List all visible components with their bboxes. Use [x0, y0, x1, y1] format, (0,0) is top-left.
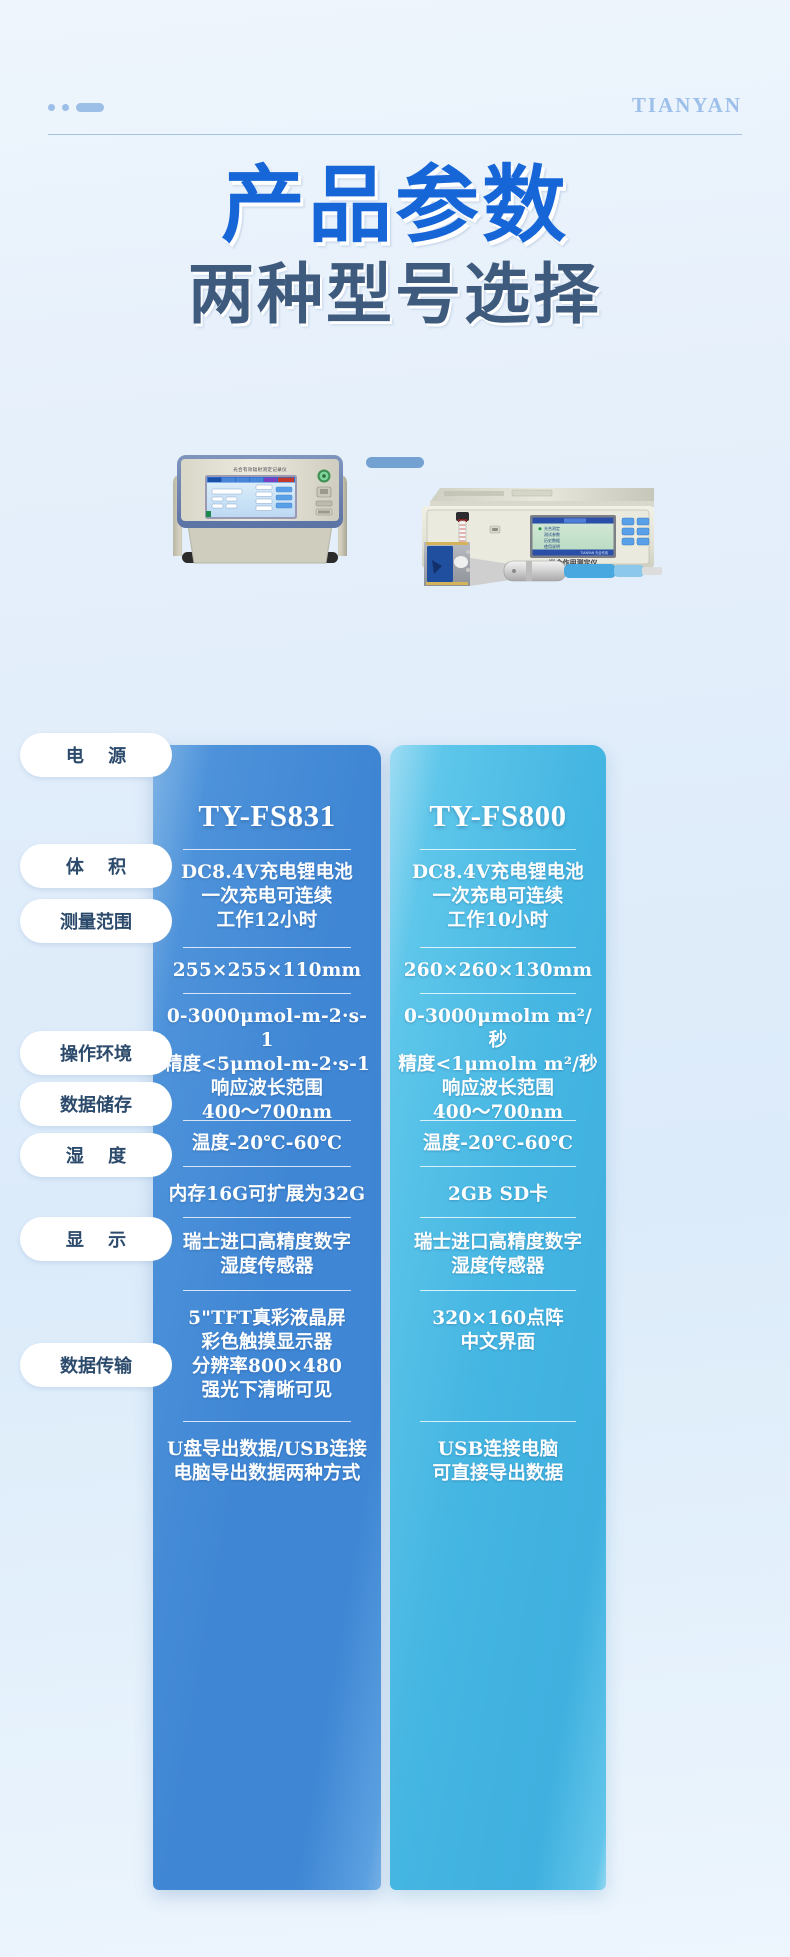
- row-label-display: 显 示: [20, 1217, 172, 1261]
- row-label-range: 测量范围: [20, 899, 172, 943]
- row-label-power: 电 源: [20, 733, 172, 777]
- row-label-transfer: 数据传输: [20, 1343, 172, 1387]
- row-label-environment: 操作环境: [20, 1031, 172, 1075]
- row-label-humidity: 湿 度: [20, 1133, 172, 1177]
- cell-storage-right: 2GB SD卡: [398, 1183, 598, 1207]
- page-header: TIANYAN: [48, 85, 742, 145]
- device-image-right: 光合测定 测试参数 历史数据 使用说明 TIANYAN 光合作用 光合作用测定仪: [404, 468, 664, 628]
- model-name-right: TY-FS800: [390, 798, 606, 834]
- row-separator: [183, 947, 351, 948]
- svg-text:测试参数: 测试参数: [544, 531, 560, 537]
- model-name-left: TY-FS831: [153, 798, 381, 834]
- dots-bar-decoration-icon: [48, 103, 104, 112]
- spec-column-ty-fs800: TY-FS800 DC8.4V充电锂电池一次充电可连续工作10小时 260×26…: [390, 745, 606, 1890]
- row-separator: [183, 1290, 351, 1291]
- cell-display-right: 320×160点阵中文界面: [398, 1307, 598, 1355]
- spec-column-ty-fs831: TY-FS831 DC8.4V充电锂电池一次充电可连续工作12小时 255×25…: [153, 745, 381, 1890]
- title-divider: [366, 457, 424, 468]
- svg-text:光合测定: 光合测定: [544, 525, 560, 531]
- cell-environment-right: 温度-20℃-60℃: [398, 1132, 598, 1156]
- row-label-volume: 体 积: [20, 844, 172, 888]
- device-image-left: 光合有效辐射测定记录仪: [160, 435, 360, 605]
- svg-text:光合有效辐射测定记录仪: 光合有效辐射测定记录仪: [233, 466, 287, 473]
- cell-volume-right: 260×260×130mm: [398, 959, 598, 983]
- row-separator: [183, 1120, 351, 1121]
- row-label-storage: 数据储存: [20, 1082, 172, 1126]
- cell-environment-left: 温度-20℃-60℃: [161, 1132, 373, 1156]
- row-separator: [183, 849, 351, 850]
- page-title: 产品参数: [0, 163, 790, 247]
- cell-transfer-right: USB连接电脑可直接导出数据: [398, 1438, 598, 1486]
- page-subtitle: 两种型号选择: [0, 261, 790, 327]
- svg-text:使用说明: 使用说明: [544, 543, 560, 549]
- cell-range-right: 0-3000μmolm m²/秒精度<1μmolm m²/秒响应波长范围400～…: [398, 1005, 598, 1125]
- row-separator: [183, 1166, 351, 1167]
- cell-display-left: 5"TFT真彩液晶屏彩色触摸显示器分辨率800×480强光下清晰可见: [161, 1307, 373, 1403]
- row-separator: [420, 849, 576, 850]
- row-separator: [420, 993, 576, 994]
- row-separator: [183, 1217, 351, 1218]
- row-separator: [183, 1421, 351, 1422]
- row-separator: [183, 993, 351, 994]
- cell-storage-left: 内存16G可扩展为32G: [161, 1183, 373, 1207]
- cell-power-right: DC8.4V充电锂电池一次充电可连续工作10小时: [398, 861, 598, 933]
- row-separator: [420, 1166, 576, 1167]
- cell-transfer-left: U盘导出数据/USB连接电脑导出数据两种方式: [161, 1438, 373, 1486]
- infographic-page: TIANYAN 产品参数 两种型号选择: [0, 0, 790, 1957]
- row-separator: [420, 947, 576, 948]
- svg-text:TIANYAN 光合作用: TIANYAN 光合作用: [580, 550, 608, 555]
- svg-text:历史数据: 历史数据: [544, 537, 560, 543]
- cell-power-left: DC8.4V充电锂电池一次充电可连续工作12小时: [161, 861, 373, 933]
- cell-humidity-right: 瑞士进口高精度数字湿度传感器: [398, 1231, 598, 1279]
- cell-volume-left: 255×255×110mm: [161, 959, 373, 983]
- header-divider: [48, 134, 742, 135]
- row-separator: [420, 1217, 576, 1218]
- brand-name: TIANYAN: [632, 93, 742, 118]
- cell-humidity-left: 瑞士进口高精度数字湿度传感器: [161, 1231, 373, 1279]
- row-separator: [420, 1421, 576, 1422]
- row-separator: [420, 1290, 576, 1291]
- row-separator: [420, 1120, 576, 1121]
- cell-range-left: 0-3000μmol-m-2·s-1精度<5μmol-m-2·s-1响应波长范围…: [161, 1005, 373, 1125]
